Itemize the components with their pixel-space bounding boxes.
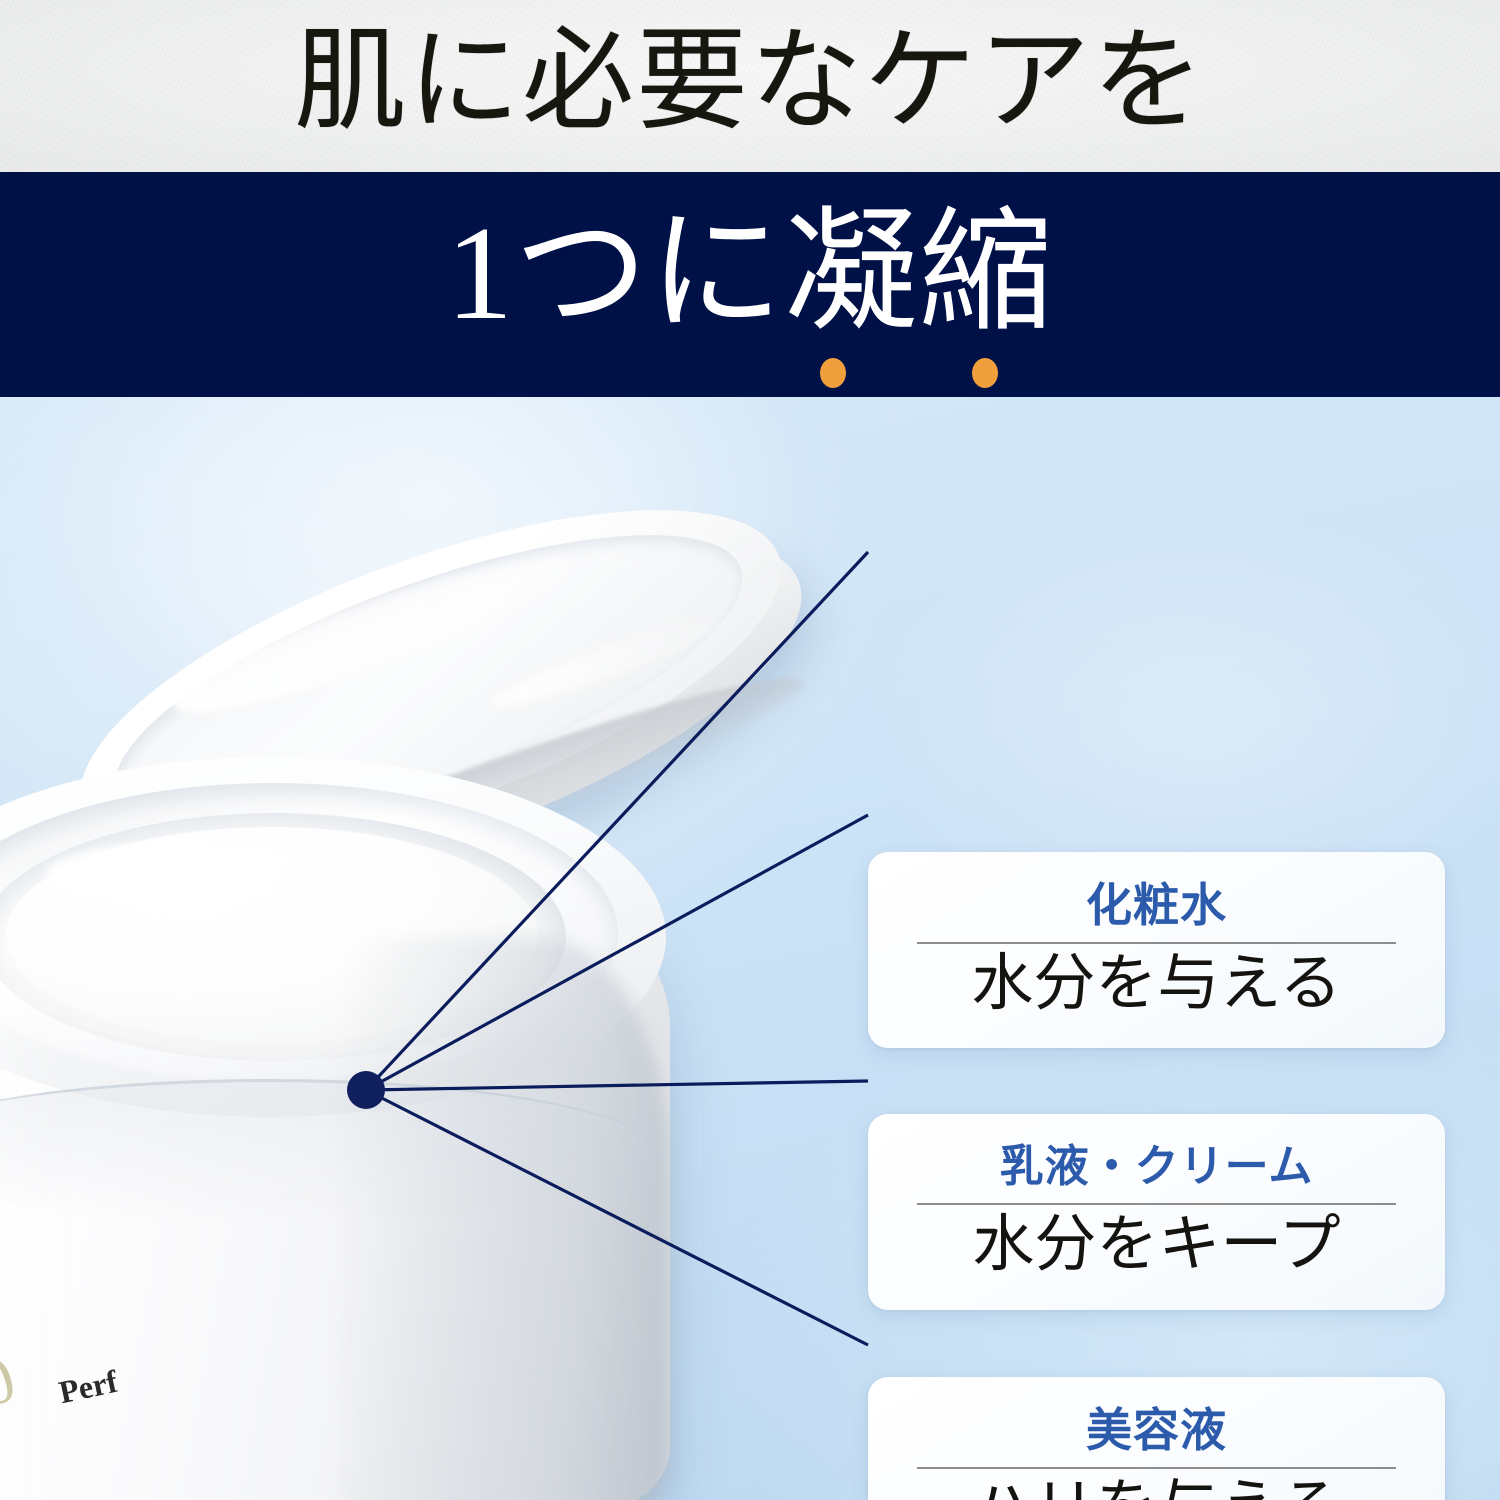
jar-side-shading [340,937,670,1500]
jar-body: Q10 Perf [0,757,670,1500]
product-jar-image: Q10 Perf [0,437,870,1500]
benefit-card-description: 水分を与える [971,952,1341,1017]
page-title: 肌に必要なケアを [294,26,1206,138]
emphasis-dot-icon [972,358,998,388]
subhead-band: 1つに凝縮 [0,172,1500,397]
card-divider [917,1203,1396,1205]
cream-highlight [46,841,346,907]
benefit-card-title: 化粧水 [1086,882,1227,928]
subhead-band-inner: 1つに凝縮 [0,172,1500,397]
benefit-card-emulsion-cream[interactable]: 乳液・クリーム 水分をキープ [868,1114,1445,1310]
card-divider [917,1467,1396,1469]
advertisement-page: 肌に必要なケアを 1つに凝縮 [0,0,1500,1500]
benefit-card-toner[interactable]: 化粧水 水分を与える [868,852,1445,1048]
jar-left-highlight [0,987,70,1500]
benefit-card-title: 美容液 [1086,1407,1227,1453]
subhead-title: 1つに凝縮 [0,206,1500,340]
product-stage: Q10 Perf 化粧水 水分を与える 乳液・クリーム 水分をキープ [0,397,1500,1500]
benefit-card-description: 水分をキープ [972,1213,1340,1278]
emphasis-dot-icon [820,358,846,388]
card-divider [917,942,1396,944]
benefit-card-title: 乳液・クリーム [1000,1145,1314,1189]
headline-band: 肌に必要なケアを [0,0,1500,172]
benefit-card-description: ハリを与える [971,1477,1341,1500]
benefit-card-serum[interactable]: 美容液 ハリを与える [868,1377,1445,1500]
